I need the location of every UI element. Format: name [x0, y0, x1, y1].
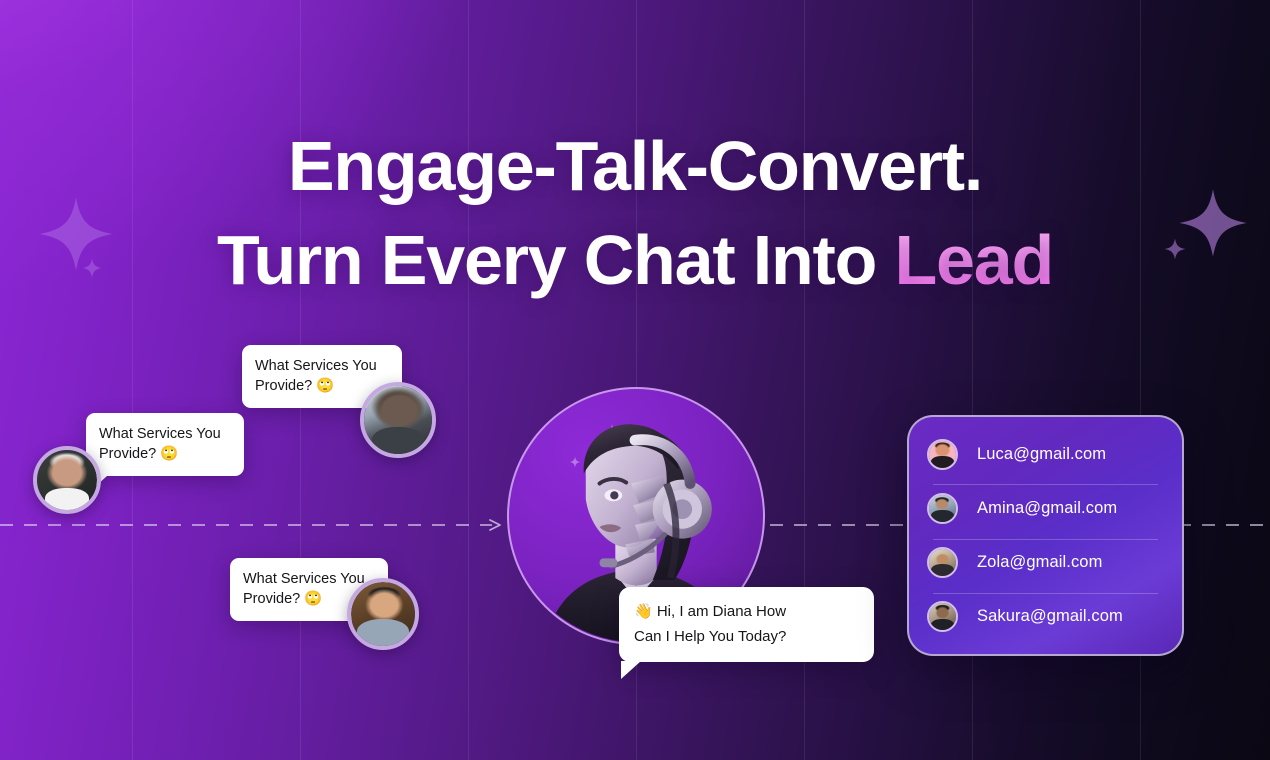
- lead-email: Sakura@gmail.com: [977, 607, 1123, 626]
- lead-row[interactable]: Amina@gmail.com: [909, 484, 1182, 532]
- page-title: Engage-Talk-Convert. Turn Every Chat Int…: [0, 119, 1270, 307]
- headline-accent-word: Lead: [894, 221, 1053, 299]
- captured-leads-card[interactable]: Luca@gmail.com Amina@gmail.com Zola@gmai…: [907, 415, 1184, 656]
- hero-banner: Engage-Talk-Convert. Turn Every Chat Int…: [0, 0, 1270, 760]
- headline-line-2-prefix: Turn Every Chat Into: [217, 221, 894, 299]
- chat-bubble-left: What Services You Provide? 🙄: [86, 413, 244, 476]
- lead-avatar-zola: [927, 547, 958, 578]
- user-avatar-laughing-man: [347, 578, 419, 650]
- arrow-right-icon: [488, 518, 504, 532]
- user-avatar-smiling-man: [33, 446, 101, 514]
- headline-line-2: Turn Every Chat Into Lead: [0, 213, 1270, 307]
- lead-avatar-luca: [927, 439, 958, 470]
- ai-greeting-bubble: 👋 Hi, I am Diana How Can I Help You Toda…: [619, 587, 874, 662]
- lead-row[interactable]: Luca@gmail.com: [909, 430, 1182, 478]
- lead-row[interactable]: Sakura@gmail.com: [909, 593, 1182, 641]
- lead-avatar-sakura: [927, 601, 958, 632]
- lead-email: Zola@gmail.com: [977, 553, 1102, 572]
- headline-line-1: Engage-Talk-Convert.: [288, 127, 982, 205]
- lead-row[interactable]: Zola@gmail.com: [909, 539, 1182, 587]
- lead-email: Amina@gmail.com: [977, 499, 1117, 518]
- lead-avatar-amina: [927, 493, 958, 524]
- lead-email: Luca@gmail.com: [977, 445, 1106, 464]
- user-avatar-bearded-man: [360, 382, 436, 458]
